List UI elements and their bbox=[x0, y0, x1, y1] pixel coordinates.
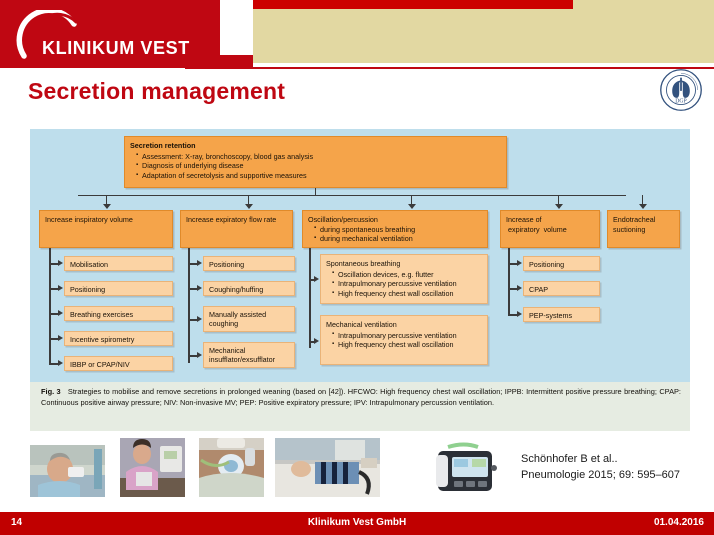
svg-text:DGP: DGP bbox=[675, 98, 686, 104]
group-bullet: Oscillation devices, e.g. flutter bbox=[333, 270, 482, 280]
column-heading-label: Endotracheal suctioning bbox=[613, 215, 655, 234]
arrow-down-icon bbox=[245, 204, 253, 209]
photo-inhaler-graphic bbox=[30, 445, 105, 497]
column-heading-increase-inspiratory-volume: Increase inspiratory volume bbox=[39, 210, 173, 248]
figure-caption: Fig. 3 Strategies to mobilise and remove… bbox=[41, 387, 681, 408]
item-box: PEP-systems bbox=[523, 307, 600, 322]
item-box: IBBP or CPAP/NIV bbox=[64, 356, 173, 371]
photo-pep-flutter-device bbox=[199, 438, 264, 497]
slide: KLINIKUM VEST Secretion management DGP S… bbox=[0, 0, 714, 535]
group-bullet: High frequency chest wall oscillation bbox=[333, 289, 482, 299]
connector-spine bbox=[49, 248, 51, 363]
footer-organisation: Klinikum Vest GmbH bbox=[0, 517, 714, 528]
group-box-mechanical-ventilation: Mechanical ventilation Intrapulmonary pe… bbox=[320, 315, 488, 365]
brand-label: KLINIKUM VEST bbox=[42, 38, 190, 59]
klinikum-vest-logo: KLINIKUM VEST bbox=[14, 10, 214, 62]
photo-ventilator-graphic bbox=[428, 441, 500, 497]
root-bullet: Assessment: X-ray, bronchoscopy, blood g… bbox=[137, 152, 501, 162]
header-divider bbox=[185, 67, 714, 69]
root-box-bullets: Assessment: X-ray, bronchoscopy, blood g… bbox=[130, 152, 501, 181]
citation-line-1: Schönhofer B et al.. bbox=[521, 452, 680, 468]
footer-date: 01.04.2016 bbox=[654, 517, 704, 528]
photo-seated-patient-graphic bbox=[120, 438, 185, 497]
arrow-right-icon bbox=[58, 260, 63, 266]
item-box: Mechanical insufflator/exsufflator bbox=[203, 342, 295, 368]
column-heading-increase-expiratory-flow-rate: Increase expiratory flow rate bbox=[180, 210, 293, 248]
column-heading-label: Oscillation/percussion bbox=[308, 215, 378, 224]
group-title: Mechanical ventilation bbox=[326, 320, 482, 330]
column-heading-increase-of-expiratory-volume: Increase of expiratory volume bbox=[500, 210, 600, 248]
connector-trunk bbox=[315, 188, 316, 195]
root-bullet: Diagnosis of underlying disease bbox=[137, 161, 501, 171]
item-box: Positioning bbox=[203, 256, 295, 271]
arrow-right-icon bbox=[197, 316, 202, 322]
item-box: CPAP bbox=[523, 281, 600, 296]
figure-caption-text: Strategies to mobilise and remove secret… bbox=[41, 387, 681, 407]
photo-patient-using-inhaler bbox=[30, 445, 105, 497]
arrow-right-icon bbox=[58, 335, 63, 341]
arrow-right-icon bbox=[197, 285, 202, 291]
column-heading-label: Increase inspiratory volume bbox=[45, 215, 133, 224]
arrow-right-icon bbox=[58, 285, 63, 291]
photo-flutter-device-graphic bbox=[199, 438, 264, 497]
item-box: Mobilisation bbox=[64, 256, 173, 271]
arrow-right-icon bbox=[517, 260, 522, 266]
group-title: Spontaneous breathing bbox=[326, 259, 482, 269]
group-bullets: Intrapulmonary percussive ventilation Hi… bbox=[326, 331, 482, 350]
connector-spine bbox=[508, 248, 510, 314]
item-box: Breathing exercises bbox=[64, 306, 173, 321]
group-bullet: Intrapulmonary percussive ventilation bbox=[333, 279, 482, 289]
item-box: Manually assisted coughing bbox=[203, 306, 295, 332]
header-red-accent-top bbox=[253, 0, 573, 9]
root-bullet: Adaptation of secretolysis and supportiv… bbox=[137, 171, 501, 181]
connector-spine bbox=[188, 248, 190, 363]
photo-chest-wall-oscillation-vest bbox=[275, 438, 380, 497]
arrow-right-icon bbox=[58, 360, 63, 366]
arrow-down-icon bbox=[103, 204, 111, 209]
arrow-right-icon bbox=[517, 311, 522, 317]
group-box-spontaneous-breathing: Spontaneous breathing Oscillation device… bbox=[320, 254, 488, 304]
connector-bus bbox=[78, 195, 626, 196]
group-bullet: High frequency chest wall oscillation bbox=[333, 340, 482, 350]
arrow-down-icon bbox=[408, 204, 416, 209]
arrow-right-icon bbox=[197, 260, 202, 266]
arrow-right-icon bbox=[314, 276, 319, 282]
column-heading-bullets: during spontaneous breathing during mech… bbox=[308, 225, 482, 244]
figure-caption-label: Fig. 3 bbox=[41, 387, 61, 396]
column-heading-patch: expiratory bbox=[506, 225, 542, 234]
figure-panel: Secretion retention Assessment: X-ray, b… bbox=[30, 129, 690, 431]
column-heading-bullet: during spontaneous breathing bbox=[315, 225, 482, 235]
page-title: Secretion management bbox=[28, 78, 285, 105]
photo-vest-therapy-graphic bbox=[275, 438, 380, 497]
root-box-secretion-retention: Secretion retention Assessment: X-ray, b… bbox=[124, 136, 507, 188]
item-box: Positioning bbox=[64, 281, 173, 296]
arrow-down-icon bbox=[555, 204, 563, 209]
photo-patient-seated-with-device bbox=[120, 438, 185, 497]
column-heading-bullet: during mechanical ventilation bbox=[315, 234, 482, 244]
photo-ventilator-device bbox=[428, 441, 500, 497]
item-box: Incentive spirometry bbox=[64, 331, 173, 346]
arrow-right-icon bbox=[58, 310, 63, 316]
connector-spine bbox=[309, 248, 311, 348]
column-heading-post: volume bbox=[544, 225, 567, 234]
arrow-right-icon bbox=[517, 285, 522, 291]
column-heading-pre: Increase of bbox=[506, 215, 542, 224]
citation-line-2: Pneumologie 2015; 69: 595–607 bbox=[521, 468, 680, 484]
header-beige-band bbox=[253, 0, 714, 63]
arrow-down-icon bbox=[639, 204, 647, 209]
column-heading-label: Increase expiratory flow rate bbox=[186, 215, 276, 224]
item-box: Positioning bbox=[523, 256, 600, 271]
group-bullet: Intrapulmonary percussive ventilation bbox=[333, 331, 482, 341]
arrow-right-icon bbox=[197, 352, 202, 358]
arrow-right-icon bbox=[314, 338, 319, 344]
citation-block: Schönhofer B et al.. Pneumologie 2015; 6… bbox=[521, 452, 680, 484]
column-heading-endotracheal-suctioning: Endotracheal suctioning bbox=[607, 210, 680, 248]
group-bullets: Oscillation devices, e.g. flutter Intrap… bbox=[326, 270, 482, 299]
column-heading-oscillation-percussion: Oscillation/percussion during spontaneou… bbox=[302, 210, 488, 248]
item-box: Coughing/huffing bbox=[203, 281, 295, 296]
dgp-society-logo-icon: DGP bbox=[659, 68, 703, 112]
root-box-title: Secretion retention bbox=[130, 141, 501, 151]
